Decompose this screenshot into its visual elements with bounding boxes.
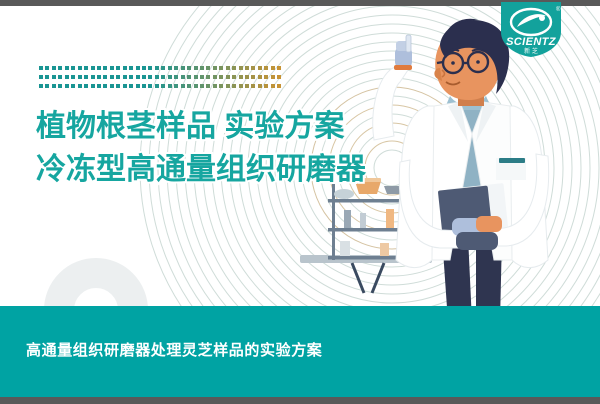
- grid-dot: [123, 75, 127, 79]
- grid-dot: [271, 84, 275, 88]
- grid-dot: [251, 66, 255, 70]
- grid-dot: [226, 84, 230, 88]
- grid-dot: [136, 75, 140, 79]
- grid-dot: [84, 84, 88, 88]
- grid-dot: [155, 84, 159, 88]
- grid-dot: [161, 75, 165, 79]
- grid-dot: [103, 84, 107, 88]
- grid-dot: [181, 84, 185, 88]
- grid-dot: [232, 66, 236, 70]
- grid-dot: [213, 75, 217, 79]
- logo-wordmark: SCIENTZ: [506, 36, 557, 48]
- grid-dot: [239, 84, 243, 88]
- bottom-frame-bar: [0, 397, 600, 404]
- grid-dot: [78, 75, 82, 79]
- grid-dot: [142, 75, 146, 79]
- grid-dot: [174, 84, 178, 88]
- grid-dot: [78, 66, 82, 70]
- grid-dot: [245, 75, 249, 79]
- poster-canvas: 植物根茎样品 实验方案 冷冻型高通量组织研磨器 高通量组织研磨器处理灵芝样品的实…: [0, 0, 600, 404]
- grid-dot: [110, 84, 114, 88]
- grid-dot: [116, 66, 120, 70]
- grid-dot: [181, 75, 185, 79]
- grid-dot: [58, 75, 62, 79]
- grid-dot: [97, 84, 101, 88]
- grid-dot: [97, 75, 101, 79]
- grid-dot: [84, 66, 88, 70]
- grid-dot: [206, 84, 210, 88]
- grid-dot: [45, 75, 49, 79]
- grid-dot: [103, 66, 107, 70]
- grid-dot: [136, 84, 140, 88]
- grid-dot: [271, 66, 275, 70]
- grid-dot: [91, 75, 95, 79]
- grid-dot: [258, 84, 262, 88]
- grid-dot: [84, 75, 88, 79]
- grid-dot: [206, 66, 210, 70]
- grid-dot: [116, 75, 120, 79]
- grid-dot: [258, 75, 262, 79]
- grid-dot: [187, 84, 191, 88]
- grid-dot: [219, 75, 223, 79]
- grid-dot: [65, 75, 69, 79]
- page-title: 植物根茎样品 实验方案 冷冻型高通量组织研磨器: [36, 107, 366, 190]
- raised-arm-with-test-tube: [394, 35, 412, 70]
- grid-dot: [148, 66, 152, 70]
- grid-dot: [226, 66, 230, 70]
- grid-dot: [219, 66, 223, 70]
- grid-dot: [264, 84, 268, 88]
- grid-dot: [39, 66, 43, 70]
- grid-dot: [65, 84, 69, 88]
- grid-dot: [181, 66, 185, 70]
- grid-dot: [187, 66, 191, 70]
- grid-dot: [168, 75, 172, 79]
- grid-dot: [39, 84, 43, 88]
- grid-dot: [206, 75, 210, 79]
- grid-dot: [97, 66, 101, 70]
- grid-dot: [258, 66, 262, 70]
- grid-dot: [219, 84, 223, 88]
- grid-dot: [277, 84, 281, 88]
- grid-dot: [65, 66, 69, 70]
- grid-dot: [200, 84, 204, 88]
- grid-dot: [91, 66, 95, 70]
- caption-band: 高通量组织研磨器处理灵芝样品的实验方案: [0, 306, 600, 397]
- logo-wordmark-cn: 新 芝: [524, 47, 538, 55]
- grid-dot: [194, 84, 198, 88]
- grid-dot: [194, 75, 198, 79]
- grid-dot: [148, 75, 152, 79]
- headline-line-1: 植物根茎样品 实验方案: [36, 107, 366, 147]
- grid-dot: [168, 84, 172, 88]
- grid-dot: [277, 75, 281, 79]
- grid-dot: [129, 75, 133, 79]
- grid-dot: [277, 66, 281, 70]
- grid-dot: [174, 66, 178, 70]
- grid-dot: [251, 84, 255, 88]
- grid-dot: [91, 84, 95, 88]
- grid-dot: [155, 75, 159, 79]
- grid-dot: [194, 66, 198, 70]
- grid-dot: [103, 75, 107, 79]
- grid-dot: [271, 75, 275, 79]
- grid-dot: [187, 75, 191, 79]
- grid-dot: [213, 66, 217, 70]
- grid-dot: [71, 66, 75, 70]
- grid-dot: [45, 84, 49, 88]
- grid-dot: [52, 75, 56, 79]
- grid-dot: [142, 84, 146, 88]
- grid-dot: [232, 75, 236, 79]
- grid-dot: [232, 84, 236, 88]
- grid-dot: [71, 84, 75, 88]
- grid-dot: [58, 66, 62, 70]
- grid-dot: [110, 75, 114, 79]
- grid-dot: [136, 66, 140, 70]
- grid-dot: [161, 66, 165, 70]
- grid-dot: [264, 66, 268, 70]
- grid-dot: [239, 66, 243, 70]
- grid-dot: [110, 66, 114, 70]
- grid-dot: [142, 66, 146, 70]
- grid-dot: [78, 84, 82, 88]
- grid-dot: [71, 75, 75, 79]
- dot-grid-teal-to-gold: [39, 66, 284, 93]
- grid-dot: [148, 84, 152, 88]
- grid-dot: [129, 84, 133, 88]
- grid-dot: [200, 75, 204, 79]
- grid-dot: [45, 66, 49, 70]
- grid-dot: [58, 84, 62, 88]
- grid-dot: [123, 66, 127, 70]
- grid-dot: [251, 75, 255, 79]
- grid-dot: [161, 84, 165, 88]
- grid-dot: [245, 84, 249, 88]
- grid-dot: [116, 84, 120, 88]
- grid-dot: [123, 84, 127, 88]
- caption-band-text: 高通量组织研磨器处理灵芝样品的实验方案: [26, 339, 322, 360]
- grid-dot: [174, 75, 178, 79]
- scientz-shield-logo[interactable]: SCIENTZ 新 芝 ®: [498, 2, 564, 58]
- grid-dot: [226, 75, 230, 79]
- grid-dot: [52, 66, 56, 70]
- trademark-icon: ®: [556, 6, 561, 13]
- grid-dot: [200, 66, 204, 70]
- headline-line-2: 冷冻型高通量组织研磨器: [36, 150, 366, 190]
- grid-dot: [245, 66, 249, 70]
- grid-dot: [39, 75, 43, 79]
- grid-dot: [129, 66, 133, 70]
- grid-dot: [155, 66, 159, 70]
- grid-dot: [168, 66, 172, 70]
- grid-dot: [264, 75, 268, 79]
- grid-dot: [213, 84, 217, 88]
- grid-dot: [239, 75, 243, 79]
- grid-dot: [52, 84, 56, 88]
